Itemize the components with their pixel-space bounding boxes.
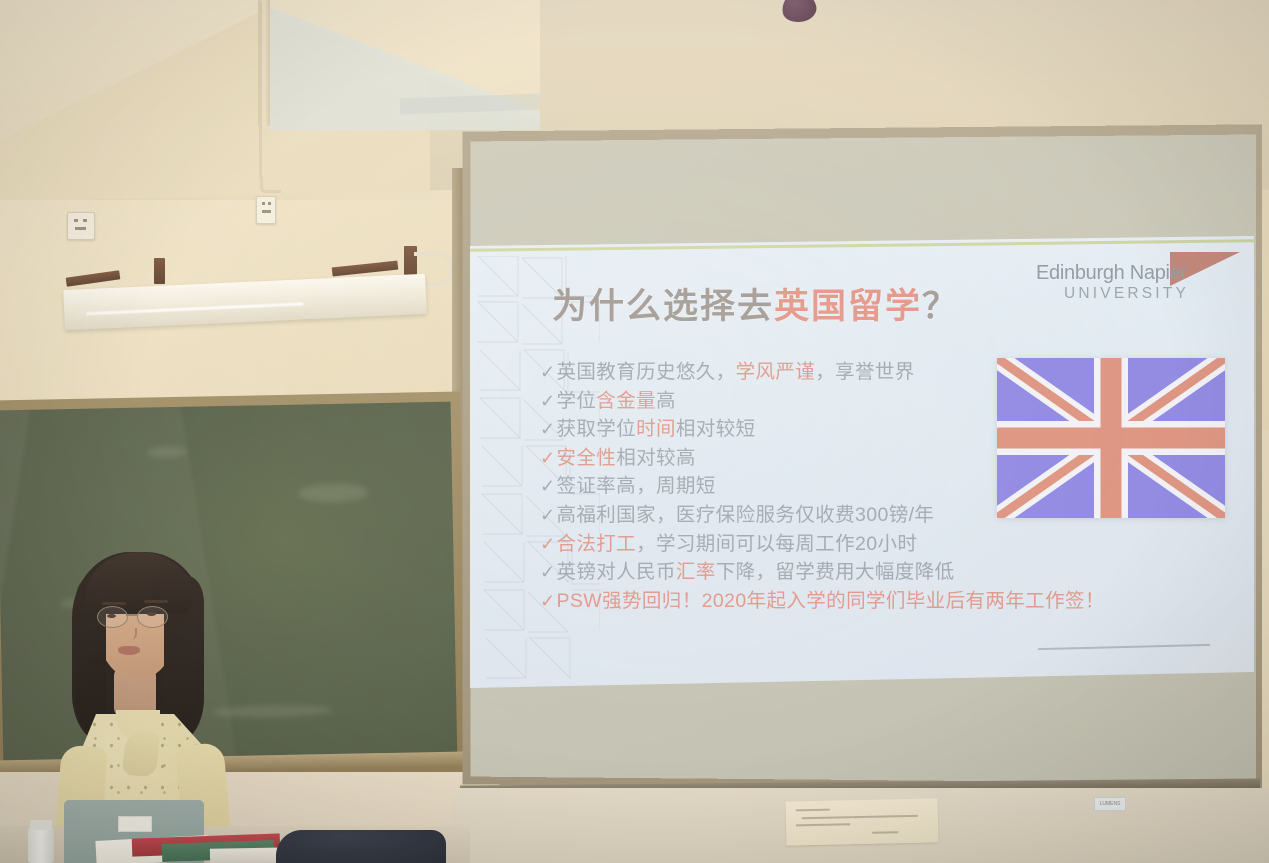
desk-jacket <box>276 830 446 863</box>
slide-bullet-b8: ✓英镑对人民币汇率下降，留学费用大幅度降低 <box>540 558 1240 587</box>
screenshot-root: 为什么选择去英国留学？ ✓英国教育历史悠久，学风严谨，享誉世界✓学位含金量高✓获… <box>0 0 1269 863</box>
bullet-text-run: 汇率 <box>676 561 716 583</box>
slide-title-trail: ？ <box>922 287 959 326</box>
power-outlet-left <box>67 212 95 240</box>
checkmark-icon: ✓ <box>540 562 555 582</box>
bullet-text-run: 下降，留学费用大幅度降低 <box>716 561 955 583</box>
flag-crosses <box>997 358 1225 518</box>
edinburgh-napier-logo: Edinburgh Napier UNIVERSITY <box>1032 254 1232 312</box>
slide-title-highlight: 英国留学 <box>774 287 922 326</box>
bullet-text-run: 安全性 <box>556 447 616 469</box>
bullet-text-run: 获取学位 <box>556 418 636 440</box>
screen-brand-sticker: LUMENS <box>1094 797 1126 811</box>
bullet-text-run: 时间 <box>636 418 676 440</box>
bullet-text-run: 学风严谨 <box>736 361 816 383</box>
presenter-brow-left <box>102 602 126 605</box>
bullet-text-run: ，学习期间可以每周工作20小时 <box>636 533 917 555</box>
chair-label <box>118 816 152 832</box>
power-outlet-right <box>256 196 276 224</box>
bullet-text-run: 高福利国家，医疗保险服务仅收费300镑/年 <box>556 504 934 526</box>
bullet-text-run: ，享誉世界 <box>815 361 915 383</box>
logo-line-2: UNIVERSITY <box>1064 285 1189 303</box>
slide-bullet-b9: ✓PSW强势回归！2020年起入学的同学们毕业后有两年工作签！ <box>540 587 1240 616</box>
presenter-mouth <box>118 646 140 655</box>
slide-footer-rule <box>1038 644 1210 650</box>
checkmark-icon: ✓ <box>540 362 555 382</box>
checkmark-icon: ✓ <box>540 448 555 468</box>
fixture-bracket-2 <box>154 258 165 284</box>
water-bottle <box>28 826 54 863</box>
checkmark-icon: ✓ <box>540 534 555 554</box>
wall-conduit <box>259 2 262 178</box>
bullet-text-run: 相对较高 <box>616 447 696 469</box>
slide-bullet-b7: ✓合法打工，学习期间可以每周工作20小时 <box>540 530 1240 559</box>
water-bottle-cap <box>30 820 52 830</box>
bullet-text-run: 合法打工 <box>556 533 636 555</box>
wall-conduit-elbow <box>260 176 281 193</box>
bullet-text-run: PSW强势回归！2020年起入学的同学们毕业后有两年工作签！ <box>556 590 1104 612</box>
presenter-glasses <box>96 606 176 628</box>
slide-title: 为什么选择去英国留学？ <box>552 278 959 329</box>
presentation-slide: 为什么选择去英国留学？ ✓英国教育历史悠久，学风严谨，享誉世界✓学位含金量高✓获… <box>470 236 1254 688</box>
bullet-text-run: 含金量 <box>596 390 656 412</box>
wall-notice-paper <box>786 798 939 845</box>
slide-title-lead: 为什么选择去 <box>552 287 774 326</box>
checkmark-icon: ✓ <box>540 505 555 525</box>
bullet-text-run: 学位 <box>556 390 596 412</box>
checkmark-icon: ✓ <box>540 391 555 411</box>
presenter-brow-right <box>144 600 168 603</box>
bullet-text-run: 英镑对人民币 <box>556 561 675 583</box>
checkmark-icon: ✓ <box>540 591 555 611</box>
bullet-text-run: 签证率高，周期短 <box>556 475 715 497</box>
logo-line-1: Edinburgh Napier <box>1036 262 1187 285</box>
bullet-text-run: 相对较短 <box>676 418 756 440</box>
union-jack-flag-image <box>997 358 1225 518</box>
checkmark-icon: ✓ <box>540 476 555 496</box>
bullet-text-run: 英国教育历史悠久， <box>556 361 735 383</box>
checkmark-icon: ✓ <box>540 419 555 439</box>
bullet-text-run: 高 <box>656 390 676 412</box>
